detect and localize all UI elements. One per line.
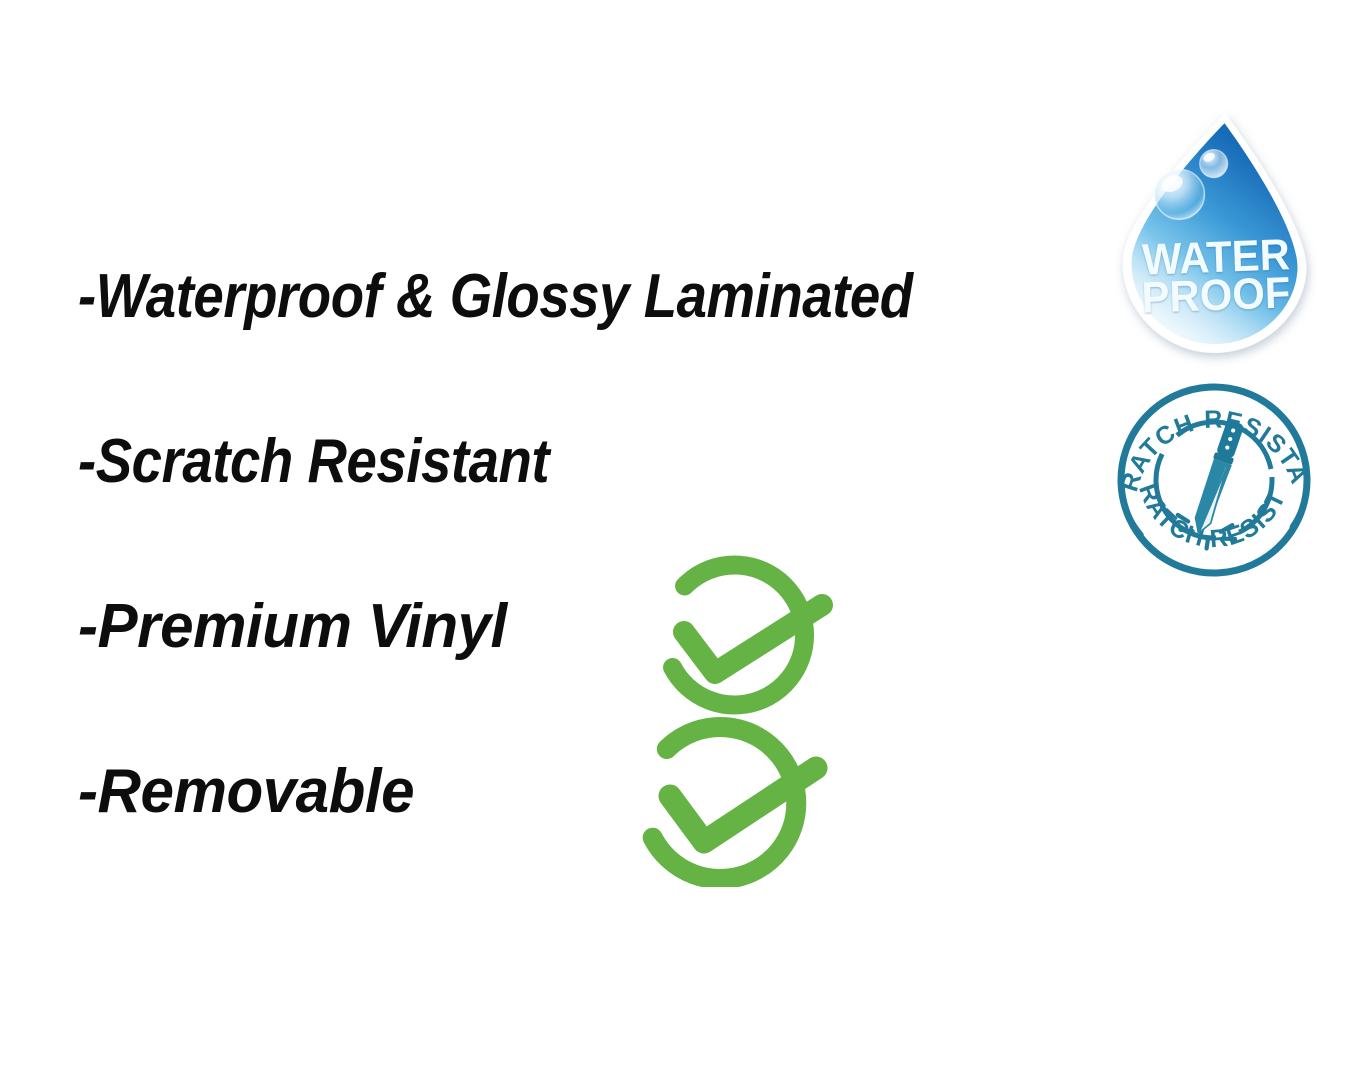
- feature-list: -Waterproof & Glossy Laminated -Scratch …: [0, 0, 1100, 1080]
- check-circle-icon: [637, 555, 837, 715]
- scratch-resistant-seal-icon: SCRATCH RESISTANT SCRATCH RESISTANT: [1112, 382, 1316, 578]
- feature-item-scratch-resistant: -Scratch Resistant: [78, 431, 549, 493]
- green-check-icon-2: [628, 712, 828, 887]
- feature-item-waterproof-glossy-laminated: -Waterproof & Glossy Laminated: [78, 266, 913, 328]
- water-drop-icon: [1100, 105, 1332, 367]
- product-feature-graphic: -Waterproof & Glossy Laminated -Scratch …: [0, 0, 1359, 1080]
- scratch-resistant-badge: SCRATCH RESISTANT SCRATCH RESISTANT: [1112, 382, 1316, 578]
- waterproof-badge: WATER PROOF: [1100, 105, 1332, 367]
- knife-icon: [1188, 419, 1245, 537]
- feature-item-premium-vinyl: -Premium Vinyl: [78, 596, 507, 658]
- check-circle-icon: [628, 712, 828, 887]
- green-check-icon-1: [637, 555, 837, 715]
- feature-item-removable: -Removable: [78, 761, 414, 823]
